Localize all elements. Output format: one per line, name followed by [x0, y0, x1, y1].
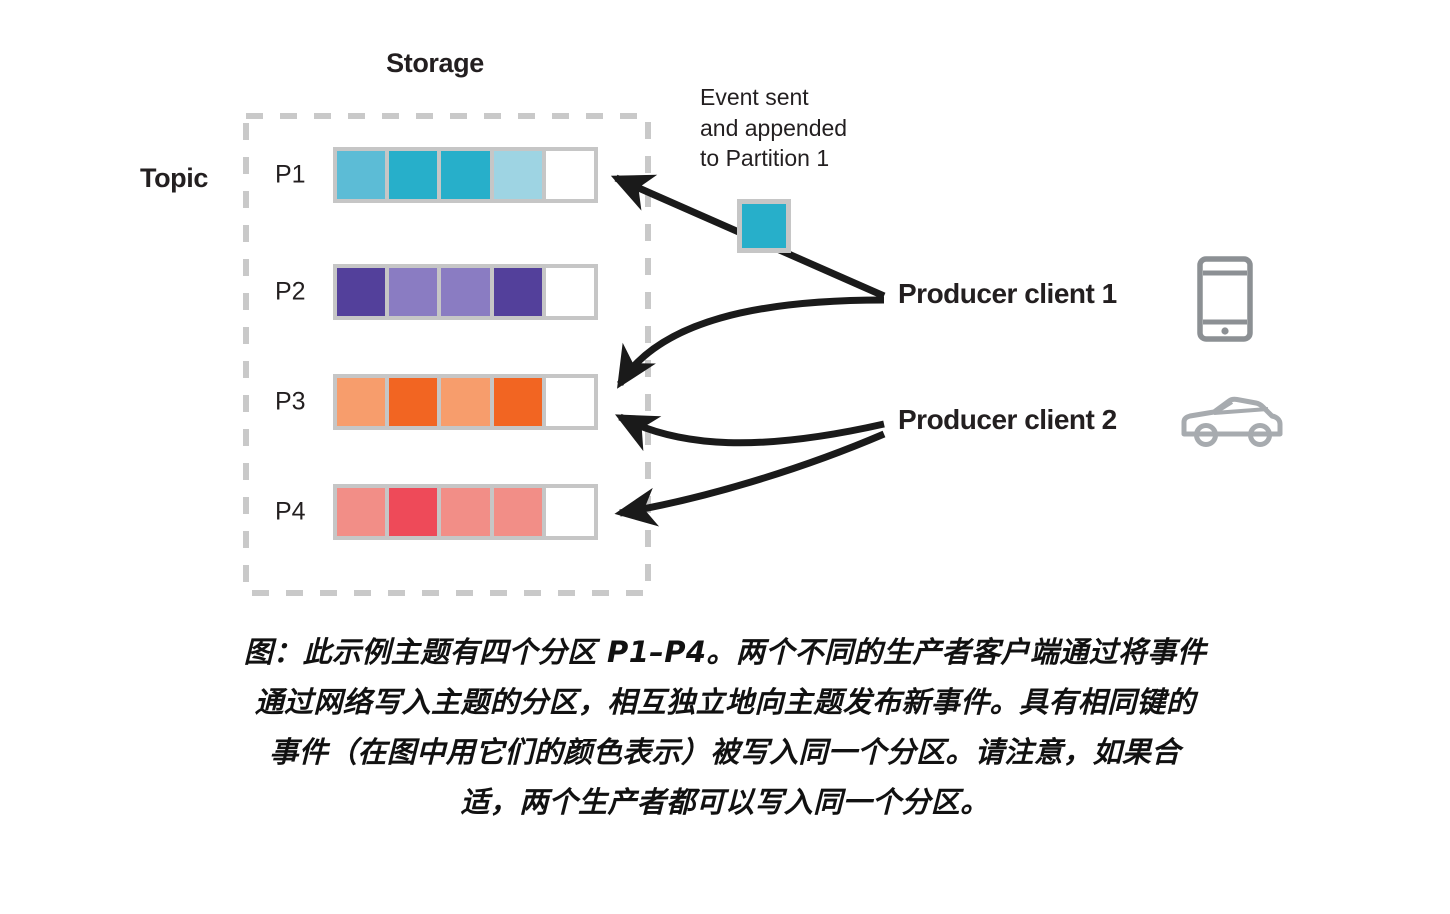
- mobile-phone-icon: [1196, 256, 1254, 347]
- partition-track-p3: [333, 374, 598, 430]
- partition-cell: [337, 488, 385, 536]
- partition-cell: [389, 151, 437, 199]
- partition-label-p1: P1: [275, 161, 319, 190]
- producer-client-2-label: Producer client 2: [898, 404, 1117, 436]
- partition-cell: [441, 268, 489, 316]
- partition-cell: [389, 488, 437, 536]
- caption-line: 通过网络写入主题的分区，相互独立地向主题发布新事件。具有相同键的: [95, 678, 1355, 728]
- page-root: Storage Topic P1 P2: [0, 0, 1450, 914]
- partition-cell: [494, 151, 542, 199]
- partition-cell: [337, 378, 385, 426]
- arrow-producer1-to-p3: [620, 300, 884, 384]
- event-square-fill: [742, 204, 786, 248]
- topic-label: Topic: [140, 163, 208, 194]
- partition-cell: [494, 268, 542, 316]
- partition-cell-empty: [546, 488, 594, 536]
- partition-label-p4: P4: [275, 498, 319, 527]
- partition-label-p2: P2: [275, 278, 319, 307]
- partition-track-p2: [333, 264, 598, 320]
- partition-track-p4: [333, 484, 598, 540]
- storage-title: Storage: [310, 48, 560, 79]
- figure-caption: 图：此示例主题有四个分区 P1–P4。两个不同的生产者客户端通过将事件 通过网络…: [95, 628, 1355, 828]
- caption-line: 事件（在图中用它们的颜色表示）被写入同一个分区。请注意，如果合: [95, 728, 1355, 778]
- in-flight-event-square: [737, 199, 791, 253]
- caption-line: 图：此示例主题有四个分区 P1–P4。两个不同的生产者客户端通过将事件: [95, 628, 1355, 678]
- partition-cell: [337, 268, 385, 316]
- car-icon: [1180, 396, 1284, 455]
- partition-cell-empty: [546, 268, 594, 316]
- partition-cell: [494, 378, 542, 426]
- partition-cell: [441, 378, 489, 426]
- partition-cell: [441, 151, 489, 199]
- partition-label-p3: P3: [275, 388, 319, 417]
- event-annotation-text: Event sent and appended to Partition 1: [700, 82, 847, 174]
- kafka-topic-partition-diagram: Storage Topic P1 P2: [0, 0, 1450, 615]
- arrow-producer2-to-p3: [620, 417, 884, 443]
- partition-cell-empty: [546, 378, 594, 426]
- caption-line: 适，两个生产者都可以写入同一个分区。: [95, 778, 1355, 828]
- partition-track-p1: [333, 147, 598, 203]
- partition-cell: [389, 268, 437, 316]
- partition-cell: [389, 378, 437, 426]
- partition-cell: [337, 151, 385, 199]
- partition-cell: [494, 488, 542, 536]
- partition-cell-empty: [546, 151, 594, 199]
- partition-cell: [441, 488, 489, 536]
- producer-client-1-label: Producer client 1: [898, 278, 1117, 310]
